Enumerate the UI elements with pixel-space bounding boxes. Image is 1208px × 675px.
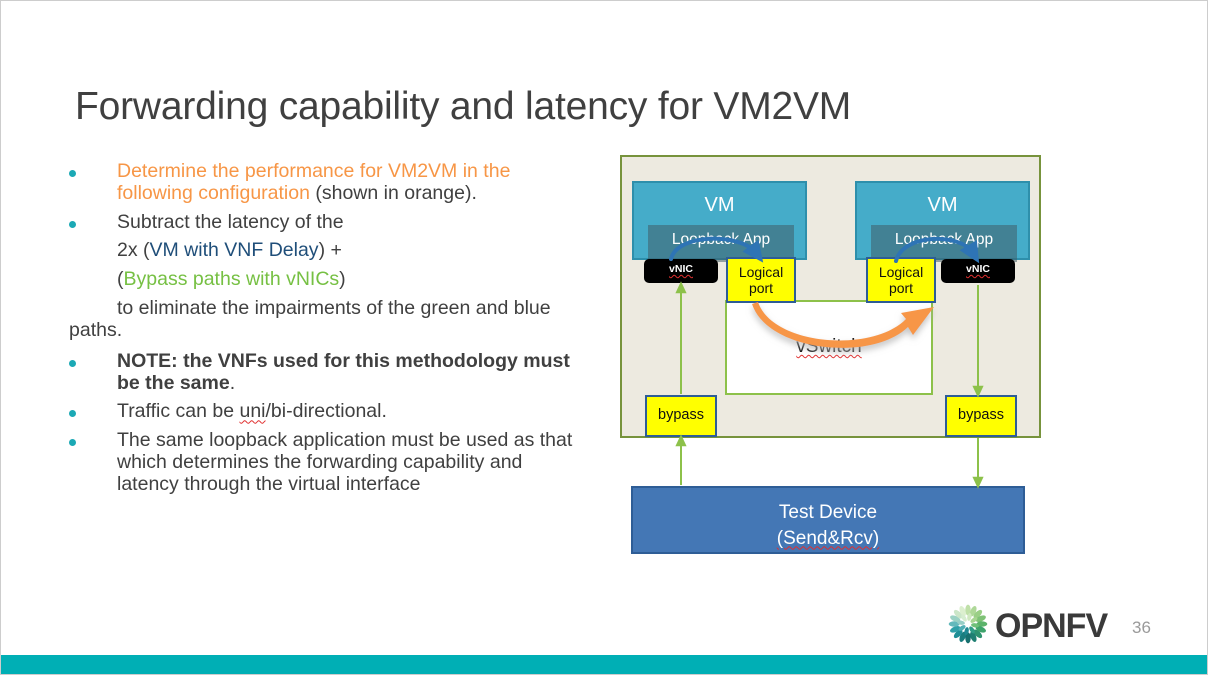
bullet-item-5-text: The same loopback application must be us… <box>117 430 589 495</box>
bullet-item-3-rest: . <box>230 372 235 394</box>
list-item: Subtract the latency of the <box>69 212 589 234</box>
bullet-dot-icon <box>69 360 76 367</box>
bypass-right-label: bypass <box>947 407 1015 423</box>
bullet-item-2-line4: to eliminate the impairments of the gree… <box>69 298 589 342</box>
list-item: Determine the performance for VM2VM in t… <box>69 161 589 205</box>
bullet-item-4-text: Traffic can be uni/bi-directional. <box>117 401 387 423</box>
bullet-dot-icon <box>69 170 76 177</box>
bullet-item-3-text: NOTE: the VNFs used for this methodology… <box>117 351 589 395</box>
line3-suffix: ) <box>339 268 346 290</box>
page-number: 36 <box>1132 618 1151 638</box>
logical-port-left-label: Logicalport <box>728 264 794 296</box>
vm-box-left: VM Loopback App <box>632 181 807 260</box>
vm-left-title: VM <box>634 194 805 217</box>
vnic-left-label: vNIC <box>644 263 718 275</box>
bullet-item-1-text: Determine the performance for VM2VM in t… <box>117 161 589 205</box>
page-title: Forwarding capability and latency for VM… <box>75 85 1075 129</box>
test-device-line2: (Send&Rcv) <box>777 528 879 549</box>
vswitch-label-text: vSwitch <box>796 336 861 357</box>
test-device-label: Test Device(Send&Rcv) <box>633 500 1023 551</box>
logical-port-left-line1: Logical <box>739 264 783 280</box>
vnic-box-left: vNIC <box>644 259 718 283</box>
logical-port-left-line2: port <box>749 280 773 296</box>
line2-prefix: 2x ( <box>117 239 150 261</box>
list-item: The same loopback application must be us… <box>69 430 589 495</box>
opnfv-logo-mark-icon <box>947 603 989 645</box>
bypass-box-left: bypass <box>645 395 717 437</box>
slide: Forwarding capability and latency for VM… <box>0 0 1208 675</box>
bullet-item-4-misspelled-word: uni <box>239 400 265 422</box>
bypass-left-label: bypass <box>647 407 715 423</box>
line2-blue: VM with VNF Delay <box>150 239 319 261</box>
bullet-item-2-line3: (Bypass paths with vNICs) <box>69 269 589 291</box>
opnfv-logo: OPNFV <box>947 602 1112 646</box>
bullet-item-2-line2: 2x (VM with VNF Delay) + <box>69 240 589 262</box>
bullet-item-3-bold: NOTE: the VNFs used for this methodology… <box>117 350 570 394</box>
bullet-dot-icon <box>69 221 76 228</box>
bullet-list: Determine the performance for VM2VM in t… <box>69 161 589 503</box>
bullet-dot-icon <box>69 439 76 446</box>
logical-port-right-label: Logicalport <box>868 264 934 296</box>
bullet-item-4-suffix: /bi-directional. <box>266 400 387 422</box>
line3-green: Bypass paths with vNICs <box>124 268 340 290</box>
opnfv-logo-text: OPNFV <box>995 607 1107 646</box>
list-item: NOTE: the VNFs used for this methodology… <box>69 351 589 395</box>
bullet-item-4-prefix: Traffic can be <box>117 400 239 422</box>
logical-port-right-line1: Logical <box>879 264 923 280</box>
bullet-dot-icon <box>69 410 76 417</box>
logical-port-right-line2: port <box>889 280 913 296</box>
vm-right-title: VM <box>857 194 1028 217</box>
vnic-right-label: vNIC <box>941 263 1015 275</box>
list-item: Traffic can be uni/bi-directional. <box>69 401 589 423</box>
bottom-accent-bar <box>1 655 1208 674</box>
logical-port-box-left: Logicalport <box>726 257 796 303</box>
vnic-box-right: vNIC <box>941 259 1015 283</box>
bypass-box-right: bypass <box>945 395 1017 437</box>
test-device-line1: Test Device <box>779 502 877 523</box>
vswitch-label: vSwitch <box>725 336 933 358</box>
bullet-item-1-rest: (shown in orange). <box>310 182 477 204</box>
test-device-box: Test Device(Send&Rcv) <box>631 486 1025 554</box>
bullet-item-2-lead: Subtract the latency of the <box>117 212 344 234</box>
line2-suffix: ) + <box>319 239 342 261</box>
logical-port-box-right: Logicalport <box>866 257 936 303</box>
loopback-app-right-label: Loopback App <box>871 231 1017 249</box>
vm-box-right: VM Loopback App <box>855 181 1030 260</box>
vm2vm-architecture-diagram: VM Loopback App VM Loopback App vNIC vNI… <box>601 141 1071 571</box>
loopback-app-left-label: Loopback App <box>648 231 794 249</box>
